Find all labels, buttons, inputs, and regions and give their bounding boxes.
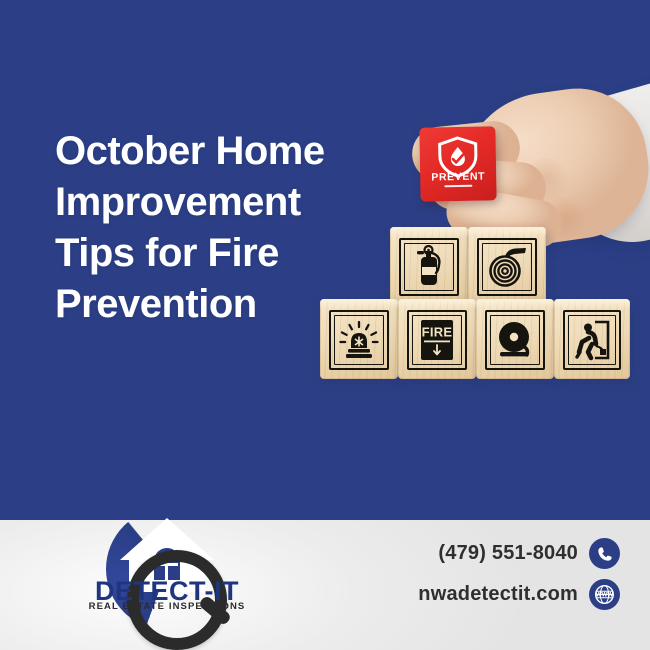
svg-text:WWW: WWW bbox=[596, 592, 614, 599]
block-fire-alarm: FIRE bbox=[398, 299, 476, 379]
block-fire-hose bbox=[468, 227, 546, 305]
emergency-exit-icon bbox=[563, 310, 621, 370]
alarm-bell-icon bbox=[485, 310, 545, 370]
contact-info: (479) 551-8040 nwadetectit.com WWW bbox=[330, 538, 620, 620]
phone-row[interactable]: (479) 551-8040 bbox=[330, 538, 620, 569]
poster-canvas: October Home Improvement Tips for Fire P… bbox=[0, 0, 650, 650]
website-row[interactable]: nwadetectit.com WWW bbox=[330, 579, 620, 610]
phone-icon[interactable] bbox=[589, 538, 620, 569]
fire-extinguisher-icon bbox=[399, 238, 459, 296]
siren-beacon-icon bbox=[329, 310, 389, 370]
globe-www-icon[interactable]: WWW bbox=[589, 579, 620, 610]
block-fire-extinguisher bbox=[390, 227, 468, 305]
website-url: nwadetectit.com bbox=[418, 583, 578, 606]
fire-hose-reel-icon bbox=[477, 238, 537, 296]
fire-alarm-label: FIRE bbox=[422, 325, 453, 340]
headline-line-3: Tips for Fire bbox=[55, 228, 415, 279]
block-alarm-bell bbox=[476, 299, 554, 379]
logo-tagline: REAL ESTATE INSPECTIONS bbox=[72, 601, 262, 612]
company-logo[interactable]: DETECT-IT REAL ESTATE INSPECTIONS bbox=[72, 500, 262, 612]
prevent-block: PREVENT bbox=[419, 126, 496, 201]
phone-number: (479) 551-8040 bbox=[438, 542, 578, 565]
headline-line-2: Improvement bbox=[55, 177, 415, 228]
block-siren bbox=[320, 299, 398, 379]
prevent-label: PREVENT bbox=[420, 170, 496, 183]
headline-line-1: October Home bbox=[55, 126, 415, 177]
fire-alarm-pull-station-icon: FIRE bbox=[407, 310, 467, 370]
block-emergency-exit bbox=[554, 299, 630, 379]
